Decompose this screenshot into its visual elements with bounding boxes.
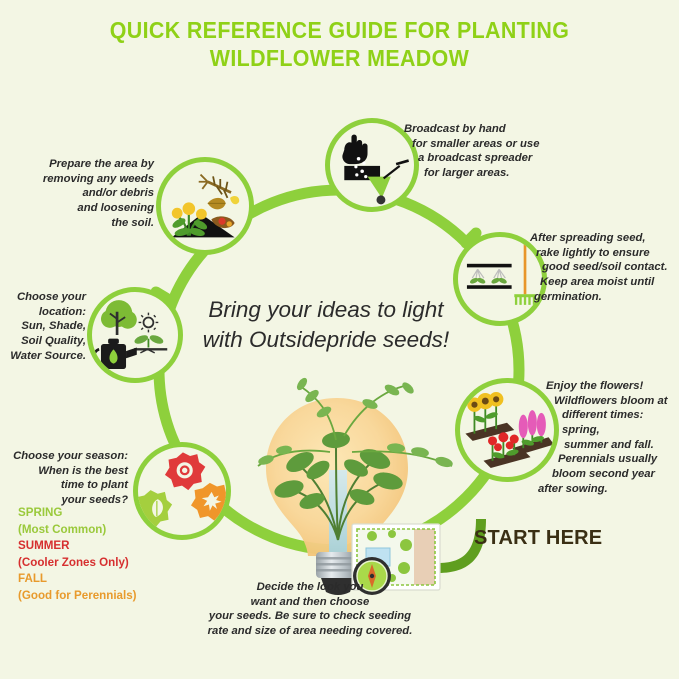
sunflower-bed [465, 392, 514, 441]
caption-line: After spreading seed, [530, 231, 679, 246]
caption-line: Sun, Shade, [0, 319, 86, 334]
season-spring-name: SPRING [18, 505, 188, 522]
caption-line: for larger areas. [404, 166, 574, 181]
page-title: QUICK REFERENCE GUIDE FOR PLANTING WILDF… [24, 16, 655, 72]
caption-choose-location: Choose your location: Sun, Shade, Soil Q… [0, 290, 86, 363]
caption-line: Prepare the area by [6, 157, 154, 172]
caption-line: rake lightly to ensure [530, 246, 679, 261]
summer-badge-icon [165, 452, 205, 490]
caption-line: the soil. [6, 216, 154, 231]
bed-top-rail [467, 264, 512, 268]
caption-line: rate and size of area needing covered. [176, 624, 444, 639]
caption-line: Broadcast by hand [404, 122, 574, 137]
sun-seedling-icon [133, 313, 167, 353]
tagline-line-2: with Outsidepride seeds! [168, 325, 484, 355]
caption-line: Wildflowers bloom at [536, 394, 679, 409]
caption-line: time to plant [0, 478, 128, 493]
watering-can-icon [94, 339, 137, 369]
dry-leaf-debris [208, 196, 240, 209]
bulb-leaves [272, 431, 404, 512]
step-node-prepare-area[interactable] [156, 157, 254, 255]
caption-line: and/or debris [6, 186, 154, 201]
bulb-glass [266, 398, 408, 556]
caption-line: want and then choose [176, 595, 444, 610]
caption-line: Decide the look you [176, 580, 444, 595]
start-here-label: START HERE [474, 527, 602, 550]
caption-line: removing any weeds [6, 172, 154, 187]
caption-line: germination. [530, 290, 679, 305]
fall-badge-icon [191, 483, 226, 521]
bulb-vine-leaves [257, 376, 454, 469]
hand-icon [342, 135, 367, 164]
hand-broadcast-spreader-icon [330, 123, 414, 207]
caption-line: your seeds. Be sure to check seeding [176, 609, 444, 624]
caption-line: for smaller areas or use [404, 137, 574, 152]
caption-rake-and-water: After spreading seed, rake lightly to en… [530, 231, 679, 304]
tree-sun-wateringcan-icon [92, 292, 178, 378]
bulb-vines [258, 386, 452, 466]
caption-line: a broadcast spreader [404, 151, 574, 166]
connector-bottom [352, 548, 360, 556]
tree-icon [101, 300, 137, 335]
caption-line: Enjoy the flowers! [536, 379, 679, 394]
bulb-plants [292, 444, 384, 540]
caption-line: location: [0, 305, 86, 320]
caption-line: good seed/soil contact. [530, 260, 679, 275]
caption-enjoy-flowers: Enjoy the flowers! Wildflowers bloom at … [536, 379, 679, 496]
pulled-weed-roots [199, 175, 231, 198]
caption-line: Choose your [0, 290, 86, 305]
caption-line: Perennials usually [536, 452, 679, 467]
caption-line: after sowing. [536, 482, 679, 497]
caption-line: different times: spring, [536, 408, 679, 437]
caption-line: and loosening [6, 201, 154, 216]
title-line-1: QUICK REFERENCE GUIDE FOR PLANTING [24, 16, 655, 44]
water-spray [472, 269, 505, 279]
caption-line: Soil Quality, [0, 334, 86, 349]
caption-line: summer and fall. [536, 438, 679, 453]
caption-line: Water Source. [0, 349, 86, 364]
tagline-line-1: Bring your ideas to light [168, 295, 484, 325]
caption-broadcast-seed: Broadcast by hand for smaller areas or u… [404, 122, 574, 181]
caption-choose-season: Choose your season: When is the best tim… [0, 449, 128, 508]
caption-decide-look: Decide the look you want and then choose… [176, 580, 444, 639]
infographic-canvas: QUICK REFERENCE GUIDE FOR PLANTING WILDF… [0, 0, 679, 679]
season-summer-note: (Cooler Zones Only) [18, 555, 188, 572]
title-line-2: WILDFLOWER MEADOW [24, 44, 655, 72]
caption-prepare-area: Prepare the area by removing any weeds a… [6, 157, 154, 230]
bulb-filament [329, 470, 347, 553]
caption-line: bloom second year [536, 467, 679, 482]
weeds-debris-soil-icon [161, 162, 249, 250]
caption-line: When is the best [0, 464, 128, 479]
season-options-list: SPRING (Most Common) SUMMER (Cooler Zone… [18, 505, 188, 604]
season-fall-note: (Good for Perennials) [18, 588, 188, 605]
season-summer-name: SUMMER [18, 538, 188, 555]
caption-line: Keep area moist until [530, 275, 679, 290]
center-tagline: Bring your ideas to light with Outsidepr… [168, 295, 484, 355]
season-fall-name: FALL [18, 571, 188, 588]
season-spring-note: (Most Common) [18, 522, 188, 539]
caption-line: Choose your season: [0, 449, 128, 464]
bed-bottom-rail [467, 285, 512, 289]
